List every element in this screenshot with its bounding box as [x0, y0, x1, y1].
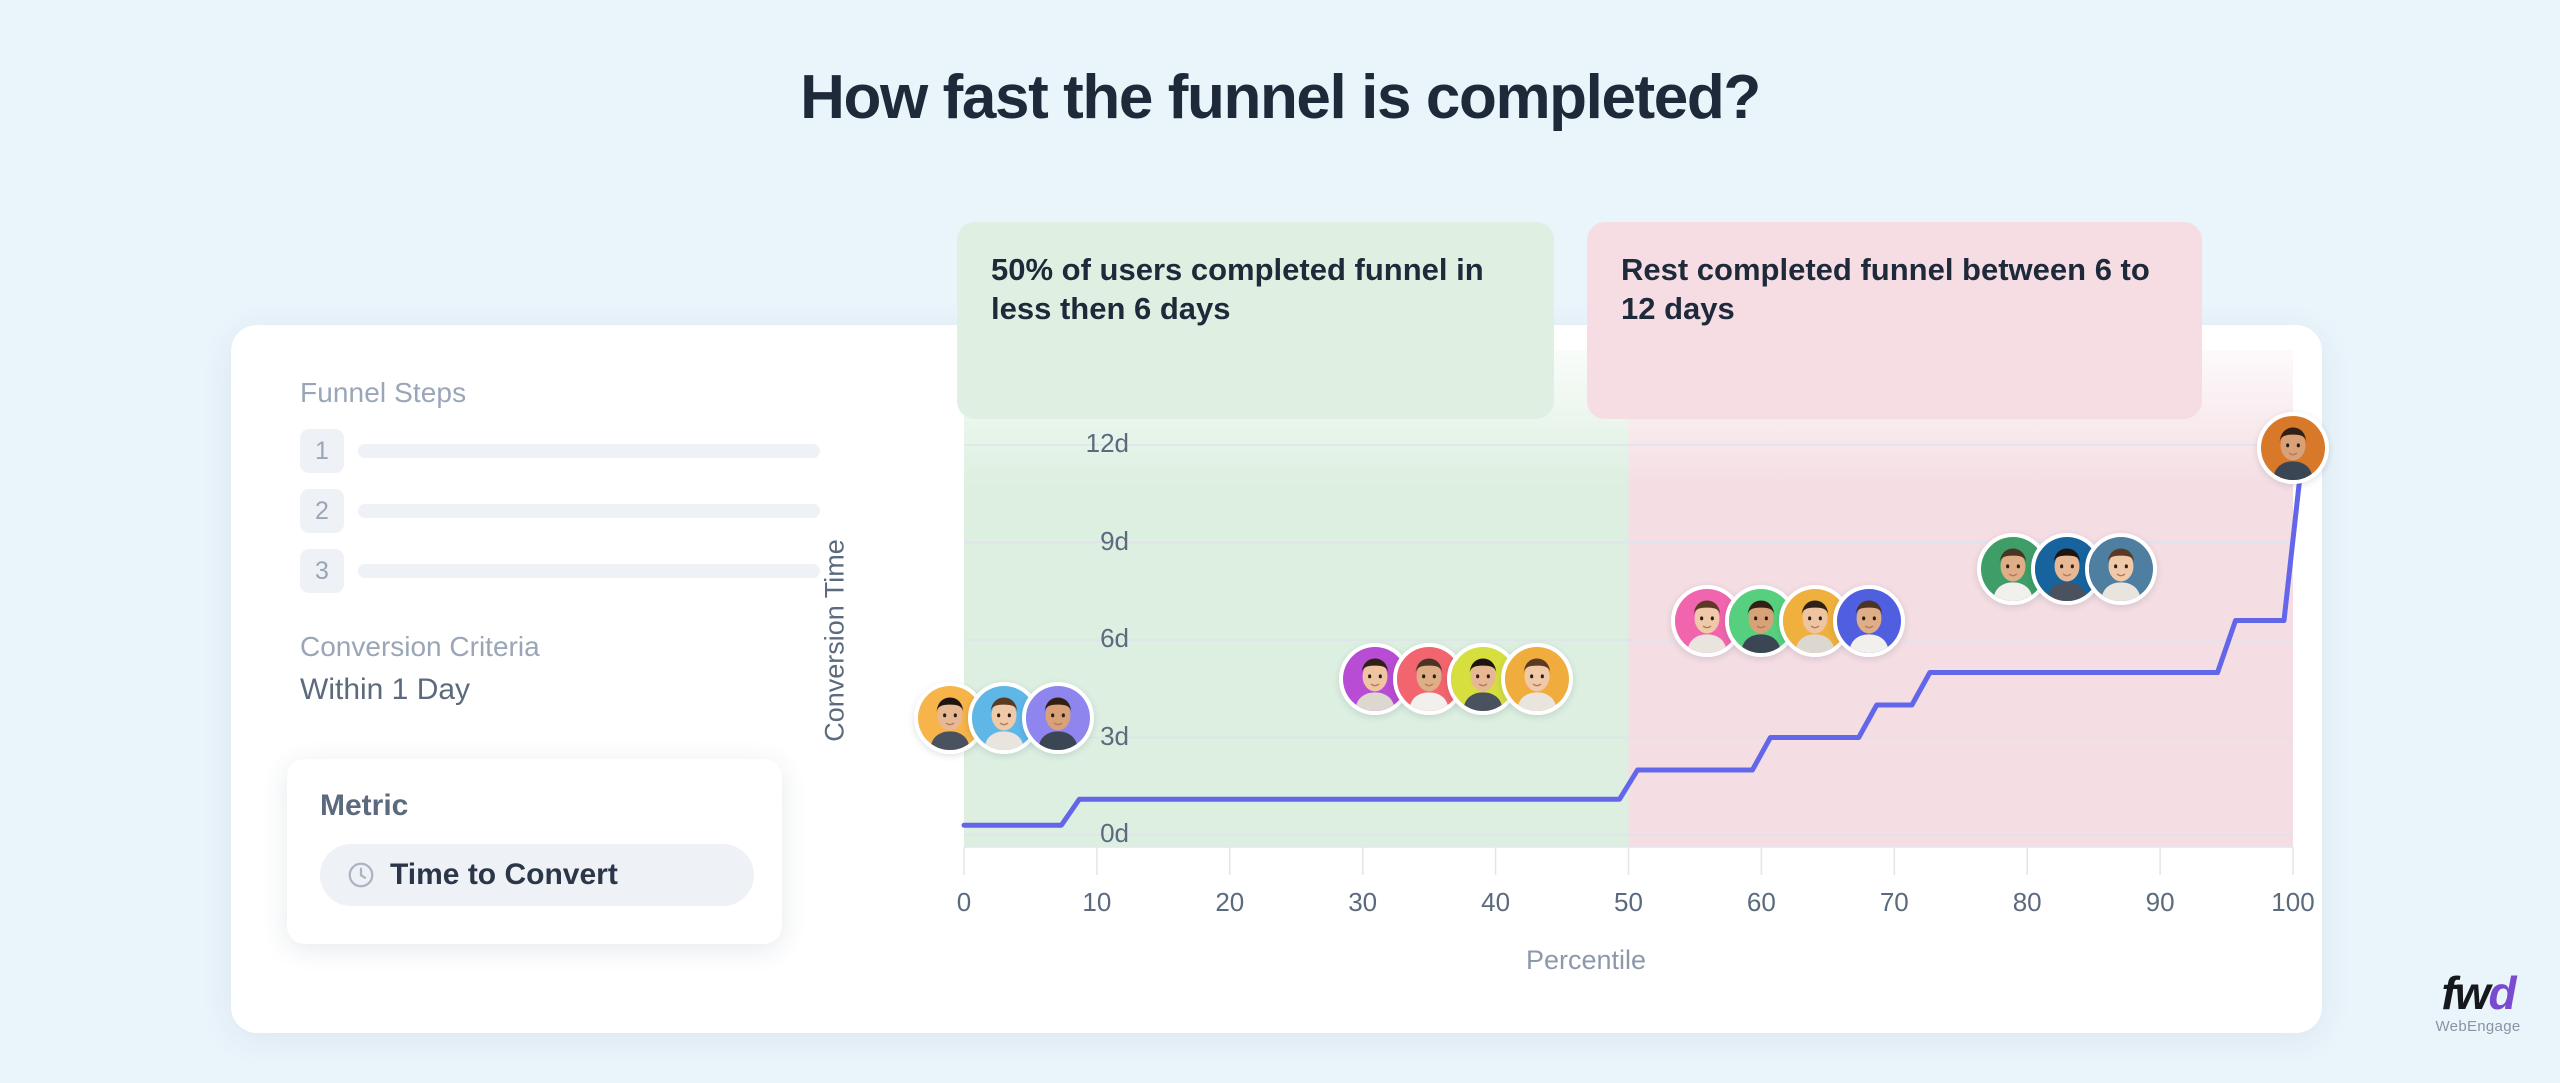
analytics-card: Funnel Steps 1 2 3 Conversion Criteria W… — [231, 325, 2322, 1033]
conversion-criteria-value[interactable]: Within 1 Day — [300, 673, 820, 707]
metric-chip-time-to-convert[interactable]: Time to Convert — [320, 844, 754, 906]
callout-green: 50% of users completed funnel in less th… — [957, 222, 1554, 419]
screenshot-root: How fast the funnel is completed? Funnel… — [0, 0, 2560, 1083]
funnel-step-number: 1 — [300, 429, 344, 473]
callout-pink: Rest completed funnel between 6 to 12 da… — [1587, 222, 2202, 419]
x-axis-tick-label: 50 — [1614, 887, 1643, 918]
funnel-config-panel: Funnel Steps 1 2 3 Conversion Criteria W… — [300, 377, 820, 707]
y-axis-tick-label: 9d — [1009, 526, 1129, 557]
x-axis-tick-label: 100 — [2271, 887, 2314, 918]
metric-card: Metric Time to Convert — [287, 759, 782, 944]
y-axis-tick-label: 0d — [1009, 818, 1129, 849]
funnel-steps-list: 1 2 3 — [300, 429, 820, 593]
metric-chip-label: Time to Convert — [390, 858, 618, 892]
y-axis-title: Conversion Time — [820, 511, 851, 771]
funnel-step-number: 2 — [300, 489, 344, 533]
avatar — [2257, 412, 2329, 484]
avatar-group — [2257, 412, 2329, 484]
logo-mark-d: d — [2489, 967, 2515, 1019]
avatar — [2085, 533, 2157, 605]
funnel-step-row[interactable]: 3 — [300, 549, 820, 593]
funnel-step-placeholder-bar — [358, 444, 820, 458]
logo-mark-fw: fw — [2441, 967, 2488, 1019]
conversion-criteria-heading: Conversion Criteria — [300, 631, 820, 663]
logo-wordmark: WebEngage — [2418, 1018, 2538, 1035]
funnel-step-placeholder-bar — [358, 564, 820, 578]
x-axis-tick-label: 80 — [2013, 887, 2042, 918]
x-axis-tick-label: 30 — [1348, 887, 1377, 918]
funnel-step-row[interactable]: 1 — [300, 429, 820, 473]
funnel-step-row[interactable]: 2 — [300, 489, 820, 533]
webengage-logo: fwd WebEngage — [2418, 972, 2538, 1035]
avatar — [1022, 682, 1094, 754]
avatar-group — [1671, 585, 1905, 657]
x-axis-tick-label: 10 — [1082, 887, 1111, 918]
x-axis-tick-label: 90 — [2146, 887, 2175, 918]
page-title: How fast the funnel is completed? — [0, 62, 2560, 133]
metric-title: Metric — [320, 789, 754, 823]
clock-icon — [346, 860, 376, 890]
x-axis-tick-label: 70 — [1880, 887, 1909, 918]
x-axis-title: Percentile — [851, 945, 2321, 976]
x-axis-tick-label: 0 — [957, 887, 971, 918]
avatar-group — [1339, 643, 1573, 715]
chart-band — [964, 350, 1629, 847]
x-axis-tick-label: 40 — [1481, 887, 1510, 918]
avatar — [1501, 643, 1573, 715]
funnel-steps-heading: Funnel Steps — [300, 377, 820, 409]
x-axis-tick-label: 20 — [1215, 887, 1244, 918]
funnel-step-placeholder-bar — [358, 504, 820, 518]
conversion-time-chart: Conversion Time Percentile 0d3d6d9d12d01… — [851, 325, 2321, 1033]
avatar-group — [1977, 533, 2157, 605]
funnel-step-number: 3 — [300, 549, 344, 593]
avatar — [1833, 585, 1905, 657]
x-axis-tick-label: 60 — [1747, 887, 1776, 918]
y-axis-tick-label: 6d — [1009, 623, 1129, 654]
y-axis-tick-label: 12d — [1009, 428, 1129, 459]
avatar-group — [914, 682, 1094, 754]
logo-mark: fwd — [2418, 972, 2538, 1016]
